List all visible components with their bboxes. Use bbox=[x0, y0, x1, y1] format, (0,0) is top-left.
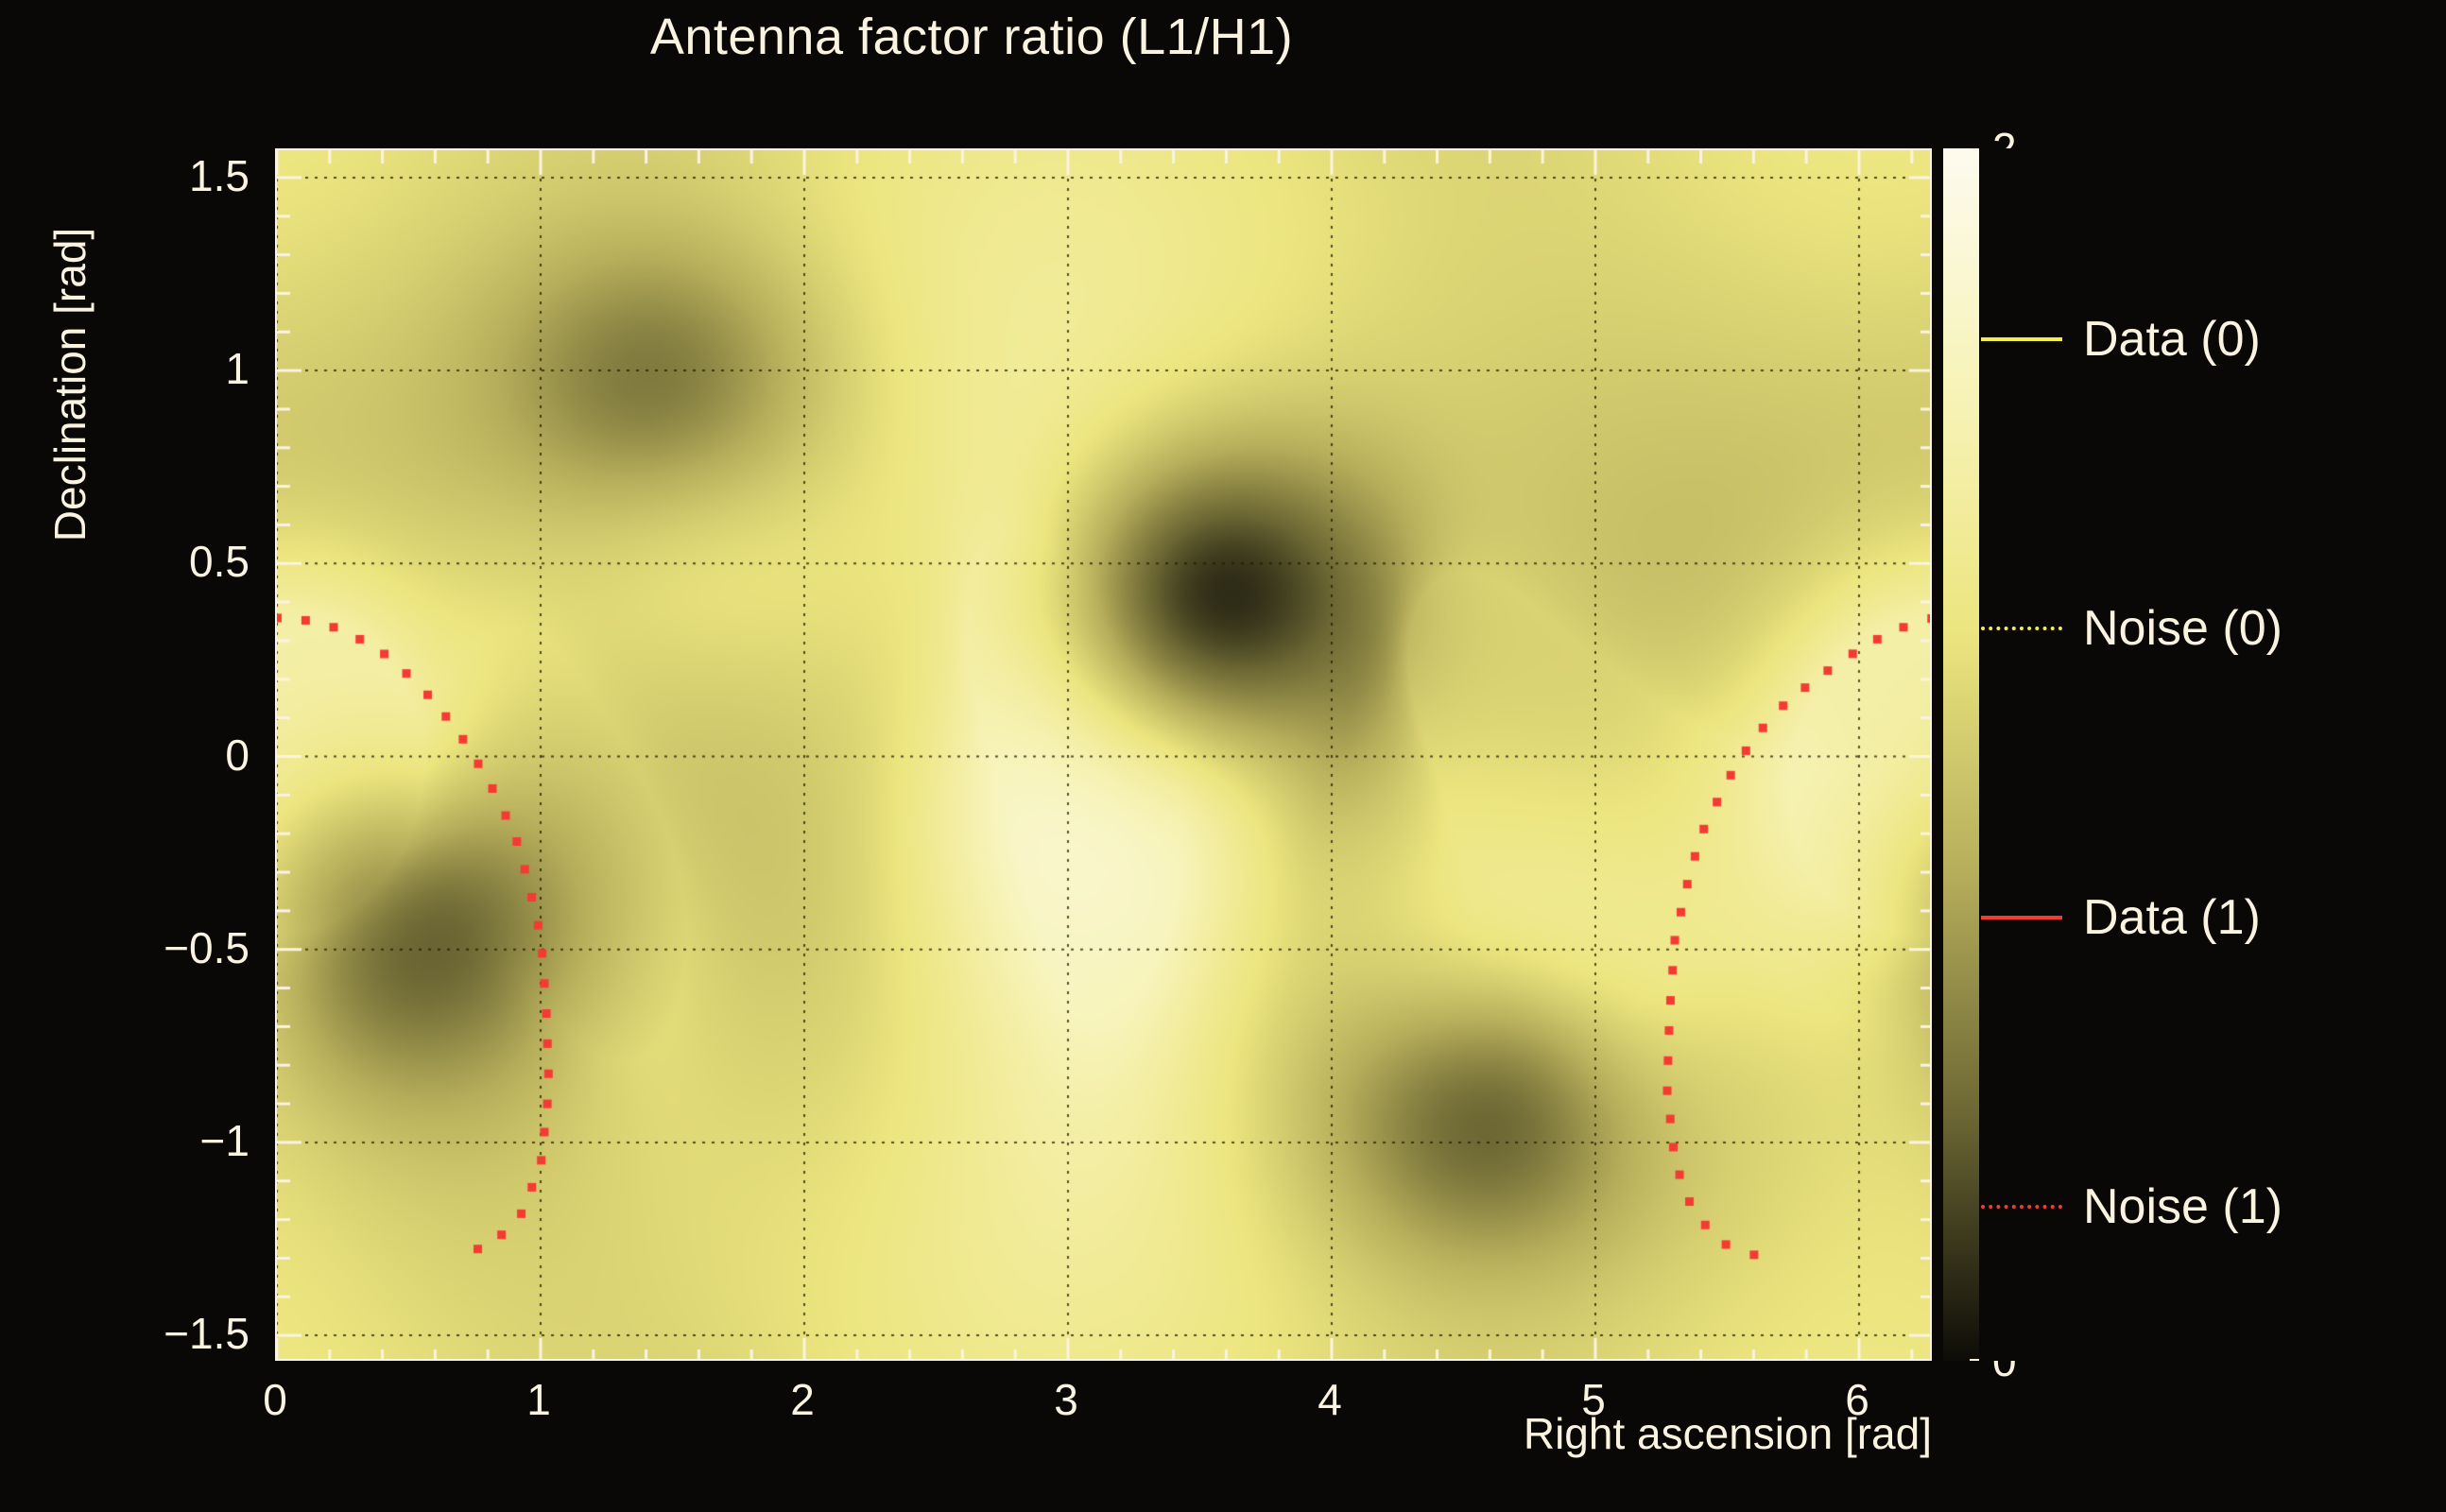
colorbar-tick-top bbox=[1970, 148, 1979, 150]
legend-entry[interactable]: Data (1) bbox=[1981, 889, 2261, 946]
legend: Data (0)Noise (0)Data (1)Noise (1) bbox=[1981, 148, 2446, 1361]
y-tick-label: 0 bbox=[38, 730, 250, 781]
y-tick-label: −0.5 bbox=[38, 922, 250, 973]
x-axis-title: Right ascension [rad] bbox=[987, 1408, 1932, 1459]
legend-line-sample-solid bbox=[1981, 916, 2062, 919]
legend-entry[interactable]: Data (0) bbox=[1981, 311, 2261, 368]
colorbar-gradient bbox=[1943, 148, 1979, 1361]
legend-line-sample-solid bbox=[1981, 337, 2062, 341]
plot-root: Antenna factor ratio (L1/H1) 1.510.50−0.… bbox=[0, 0, 2446, 1512]
x-tick-label: 1 bbox=[526, 1374, 551, 1425]
colorbar: 2 0 bbox=[1943, 148, 1979, 1361]
y-axis-title: Declination [rad] bbox=[44, 139, 95, 630]
plot-area[interactable] bbox=[275, 148, 1932, 1361]
grid-and-curve-overlay-canvas bbox=[277, 150, 1932, 1361]
legend-label: Data (0) bbox=[2083, 311, 2261, 368]
legend-entry[interactable]: Noise (1) bbox=[1981, 1178, 2282, 1235]
y-tick-label: −1.5 bbox=[38, 1308, 250, 1359]
legend-entry[interactable]: Noise (0) bbox=[1981, 600, 2282, 657]
legend-line-sample-dotted bbox=[1981, 627, 2062, 630]
x-tick-label: 2 bbox=[790, 1374, 815, 1425]
legend-label: Noise (0) bbox=[2083, 600, 2282, 657]
legend-line-sample-dotted bbox=[1981, 1205, 2062, 1209]
y-tick-label: −1 bbox=[38, 1115, 250, 1166]
colorbar-tick-bottom bbox=[1970, 1359, 1979, 1361]
legend-label: Data (1) bbox=[2083, 889, 2261, 946]
page-title: Antenna factor ratio (L1/H1) bbox=[0, 8, 1943, 66]
legend-label: Noise (1) bbox=[2083, 1178, 2282, 1235]
x-tick-label: 0 bbox=[263, 1374, 287, 1425]
